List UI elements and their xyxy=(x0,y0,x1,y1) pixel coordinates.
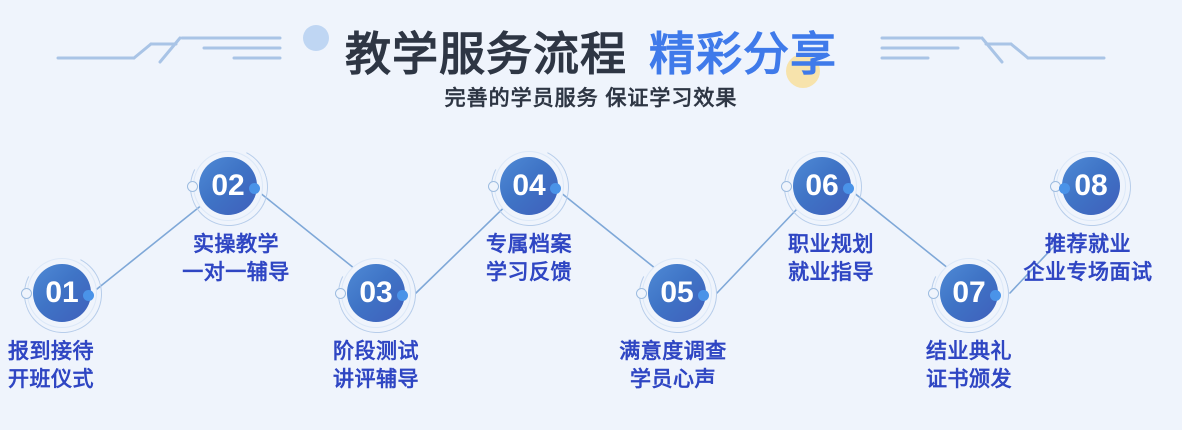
flow-label-05-line2: 学员心声 xyxy=(619,366,727,394)
node-number: 05 xyxy=(660,278,693,308)
flow-label-01-line2: 开班仪式 xyxy=(8,366,94,394)
flow-label-03: 阶段测试 讲评辅导 xyxy=(333,338,419,393)
node-number: 01 xyxy=(45,278,78,308)
node-connector-dot-icon xyxy=(83,290,94,301)
flow-label-04-line2: 学习反馈 xyxy=(486,259,572,287)
flow-label-04: 专属档案 学习反馈 xyxy=(486,231,572,286)
node-connector-dot-icon xyxy=(550,183,561,194)
flow-label-08-line1: 推荐就业 xyxy=(1024,231,1153,259)
node-number: 03 xyxy=(359,278,392,308)
node-ring-dot-icon xyxy=(928,288,939,299)
flow-label-02-line2: 一对一辅导 xyxy=(182,259,290,287)
flow-label-03-line2: 讲评辅导 xyxy=(333,366,419,394)
node-ring-dot-icon xyxy=(335,288,346,299)
flow-label-04-line1: 专属档案 xyxy=(486,231,572,259)
flow-label-07-line2: 证书颁发 xyxy=(926,366,1012,394)
flow-label-01-line1: 报到接待 xyxy=(8,338,94,366)
node-ring-dot-icon xyxy=(636,288,647,299)
node-ring-dot-icon xyxy=(187,181,198,192)
node-connector-dot-icon xyxy=(990,290,1001,301)
node-ring-dot-icon xyxy=(21,288,32,299)
flow-label-06: 职业规划 就业指导 xyxy=(788,231,874,286)
node-number: 06 xyxy=(805,171,838,201)
node-number: 07 xyxy=(952,278,985,308)
title-accent-text: 精彩分享 xyxy=(649,28,837,80)
flow-label-08: 推荐就业 企业专场面试 xyxy=(1024,231,1153,286)
flow-label-08-line2: 企业专场面试 xyxy=(1024,259,1153,287)
node-number: 08 xyxy=(1074,171,1107,201)
node-connector-dot-icon xyxy=(843,183,854,194)
flow-label-07: 结业典礼 证书颁发 xyxy=(926,338,1012,393)
flow-label-02: 实操教学 一对一辅导 xyxy=(182,231,290,286)
flow-label-05: 满意度调查 学员心声 xyxy=(619,338,727,393)
node-ring-dot-icon xyxy=(781,181,792,192)
node-number: 02 xyxy=(211,171,244,201)
flow-label-02-line1: 实操教学 xyxy=(182,231,290,259)
node-connector-dot-icon xyxy=(249,183,260,194)
title-main-text: 教学服务流程 xyxy=(345,28,627,80)
flow-label-05-line1: 满意度调查 xyxy=(619,338,727,366)
flow-label-01: 报到接待 开班仪式 xyxy=(8,338,94,393)
node-connector-dot-icon xyxy=(1059,183,1070,194)
infographic-canvas: 教学服务流程精彩分享 完善的学员服务 保证学习效果 xyxy=(0,0,1182,430)
node-connector-dot-icon xyxy=(397,290,408,301)
flow-label-06-line1: 职业规划 xyxy=(788,231,874,259)
node-number: 04 xyxy=(512,171,545,201)
flow-label-06-line2: 就业指导 xyxy=(788,259,874,287)
node-connector-dot-icon xyxy=(698,290,709,301)
flow-label-03-line1: 阶段测试 xyxy=(333,338,419,366)
title-blue-blob-decoration xyxy=(303,25,329,51)
node-circle: 08 xyxy=(1062,157,1120,215)
flow-label-07-line1: 结业典礼 xyxy=(926,338,1012,366)
node-ring-dot-icon xyxy=(488,181,499,192)
